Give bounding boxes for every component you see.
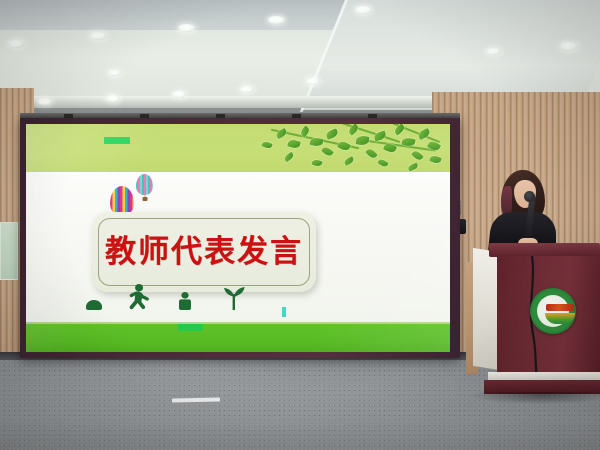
podium-floor-shadow — [470, 392, 600, 404]
downlight-1 — [90, 32, 107, 40]
hot-air-balloon-small-icon — [136, 174, 153, 195]
podium-top-surface — [489, 243, 600, 257]
school-emblem-arc — [545, 313, 575, 324]
school-emblem-text — [546, 304, 574, 311]
downlight-3 — [268, 16, 285, 24]
downlight-7 — [172, 91, 186, 98]
cyan-glitch-sliver — [282, 307, 286, 317]
photo-scene: 教师代表发言 — [0, 0, 600, 450]
slide-grass-band — [26, 324, 450, 352]
downlight-12 — [306, 78, 320, 85]
downlight-2 — [178, 24, 195, 32]
downlight-8 — [240, 86, 254, 93]
podium-side-panel — [473, 248, 499, 370]
downlight-6 — [106, 95, 120, 102]
green-glitch-block-bottom — [178, 324, 203, 331]
downlight-11 — [486, 48, 501, 55]
downlight-10 — [560, 42, 578, 51]
slide-title-plaque-border: 教师代表发言 — [98, 218, 310, 286]
downlight-0 — [8, 40, 25, 48]
presentation-slide: 教师代表发言 — [26, 124, 450, 352]
silhouette-plant-large — [222, 286, 246, 310]
slide-title: 教师代表发言 — [105, 237, 303, 268]
microphone-head-icon — [524, 191, 535, 202]
downlight-5 — [38, 98, 52, 105]
silhouette-child-running — [126, 284, 150, 310]
downlight-9 — [108, 70, 121, 76]
silhouette-bush-small — [86, 300, 102, 310]
silhouette-child-kneeling — [176, 292, 194, 310]
wall-panel-left — [0, 222, 18, 280]
school-emblem — [530, 288, 576, 334]
downlight-4 — [355, 6, 372, 14]
slide-title-plaque: 教师代表发言 — [92, 212, 316, 292]
school-emblem-center — [537, 295, 569, 327]
projection-screen[interactable]: 教师代表发言 — [26, 124, 450, 352]
green-glitch-block-top — [104, 137, 130, 144]
